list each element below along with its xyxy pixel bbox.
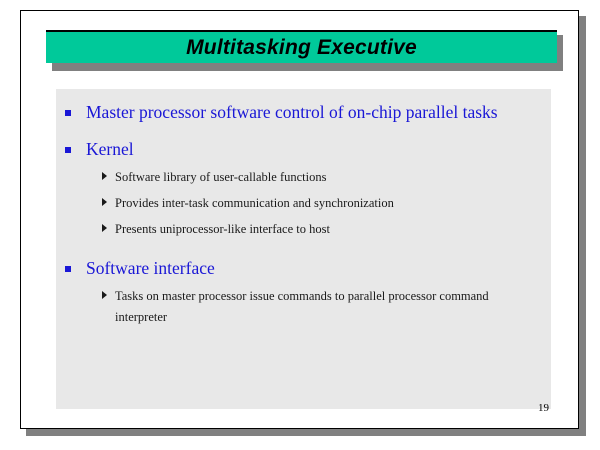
triangle-bullet-icon bbox=[102, 291, 107, 299]
sub-bullet-list: Software library of user-callable functi… bbox=[56, 167, 543, 240]
list-item: Master processor software control of on-… bbox=[56, 99, 543, 126]
bullet-list: Master processor software control of on-… bbox=[56, 99, 543, 328]
list-item: Presents uniprocessor-like interface to … bbox=[56, 219, 543, 240]
list-item: Provides inter-task communication and sy… bbox=[56, 193, 543, 214]
triangle-bullet-icon bbox=[102, 172, 107, 180]
triangle-bullet-icon bbox=[102, 198, 107, 206]
square-bullet-icon bbox=[65, 147, 71, 153]
page-title: Multitasking Executive bbox=[186, 36, 417, 60]
title-banner: Multitasking Executive bbox=[46, 30, 557, 63]
slide-root: Multitasking Executive Master processor … bbox=[0, 0, 600, 450]
bullet-level2-text: Tasks on master processor issue commands… bbox=[115, 286, 543, 328]
list-item: Software interface bbox=[56, 255, 543, 282]
bullet-level2-text: Software library of user-callable functi… bbox=[115, 167, 543, 188]
bullet-level1-text: Software interface bbox=[86, 255, 543, 282]
list-item: Tasks on master processor issue commands… bbox=[56, 286, 543, 328]
square-bullet-icon bbox=[65, 266, 71, 272]
list-item: Kernel bbox=[56, 136, 543, 163]
slide-content-box: Master processor software control of on-… bbox=[56, 89, 551, 409]
square-bullet-icon bbox=[65, 110, 71, 116]
slide-page: Multitasking Executive Master processor … bbox=[20, 10, 579, 429]
bullet-level1-text: Master processor software control of on-… bbox=[86, 99, 543, 126]
sub-bullet-list: Tasks on master processor issue commands… bbox=[56, 286, 543, 328]
triangle-bullet-icon bbox=[102, 224, 107, 232]
list-item: Software library of user-callable functi… bbox=[56, 167, 543, 188]
bullet-level2-text: Presents uniprocessor-like interface to … bbox=[115, 219, 543, 240]
bullet-level2-text: Provides inter-task communication and sy… bbox=[115, 193, 543, 214]
page-number: 19 bbox=[538, 402, 549, 414]
bullet-level1-text: Kernel bbox=[86, 136, 543, 163]
